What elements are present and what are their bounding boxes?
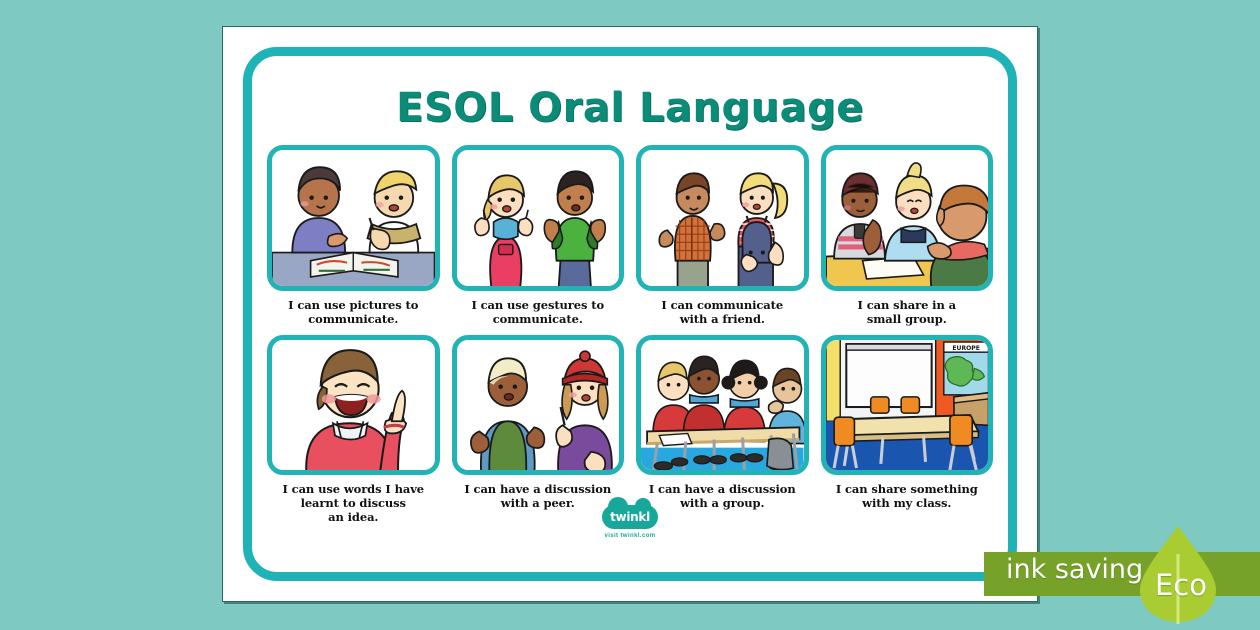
card-pictures[interactable]: I can use pictures to communicate. [267, 145, 440, 326]
twinkl-url: visit twinkl.com [570, 533, 690, 539]
europe-poster-label: EUROPE [952, 345, 980, 352]
illustration-two-children-pointing-at-book [267, 145, 440, 291]
card-friend[interactable]: I can communicate with a friend. [636, 145, 809, 326]
card-grid-row-1: I can use pictures to communicate. [267, 145, 993, 326]
illustration-boy-plaid-and-girl-overalls [636, 145, 809, 291]
printable-page: ESOL Oral Language [222, 26, 1038, 602]
twinkl-wordmark: twinkl [602, 510, 658, 524]
card-caption: I can use gestures to communicate. [471, 298, 604, 326]
illustration-three-children-at-table [821, 145, 994, 291]
card-group[interactable]: I can have a discussion with a group. [636, 335, 809, 524]
card-small-group[interactable]: I can share in a small group. [821, 145, 994, 326]
ink-saving-label: ink saving [1006, 554, 1143, 585]
card-caption: I can use pictures to communicate. [288, 298, 418, 326]
card-caption: I can share in a small group. [858, 298, 956, 326]
eco-badge: ink saving Eco [984, 546, 1260, 602]
card-caption: I can share something with my class. [836, 482, 978, 510]
card-gestures[interactable]: I can use gestures to communicate. [452, 145, 625, 326]
twinkl-logo: twinkl visit twinkl.com [570, 505, 690, 539]
card-words-idea[interactable]: I can use words I have learnt to discuss… [267, 335, 440, 524]
illustration-empty-classroom: EUROPE [821, 335, 994, 475]
card-grid-row-2: I can use words I have learnt to discuss… [267, 335, 993, 524]
poster-canvas: ESOL Oral Language [0, 0, 1260, 630]
card-peer[interactable]: I can have a discussion with a peer. [452, 335, 625, 524]
card-class[interactable]: EUROPE [821, 335, 994, 524]
card-caption: I can communicate with a friend. [661, 298, 783, 326]
illustration-girl-and-boy-gesturing [452, 145, 625, 291]
twinkl-cloud-icon: twinkl [602, 505, 658, 529]
card-caption: I can use words I have learnt to discuss… [283, 482, 425, 524]
illustration-boy-vest-and-girl-beanie [452, 335, 625, 475]
illustration-four-children-uniform-table [636, 335, 809, 475]
page-title: ESOL Oral Language [223, 85, 1037, 131]
eco-label: Eco [1155, 568, 1207, 602]
illustration-boy-finger-raised [267, 335, 440, 475]
